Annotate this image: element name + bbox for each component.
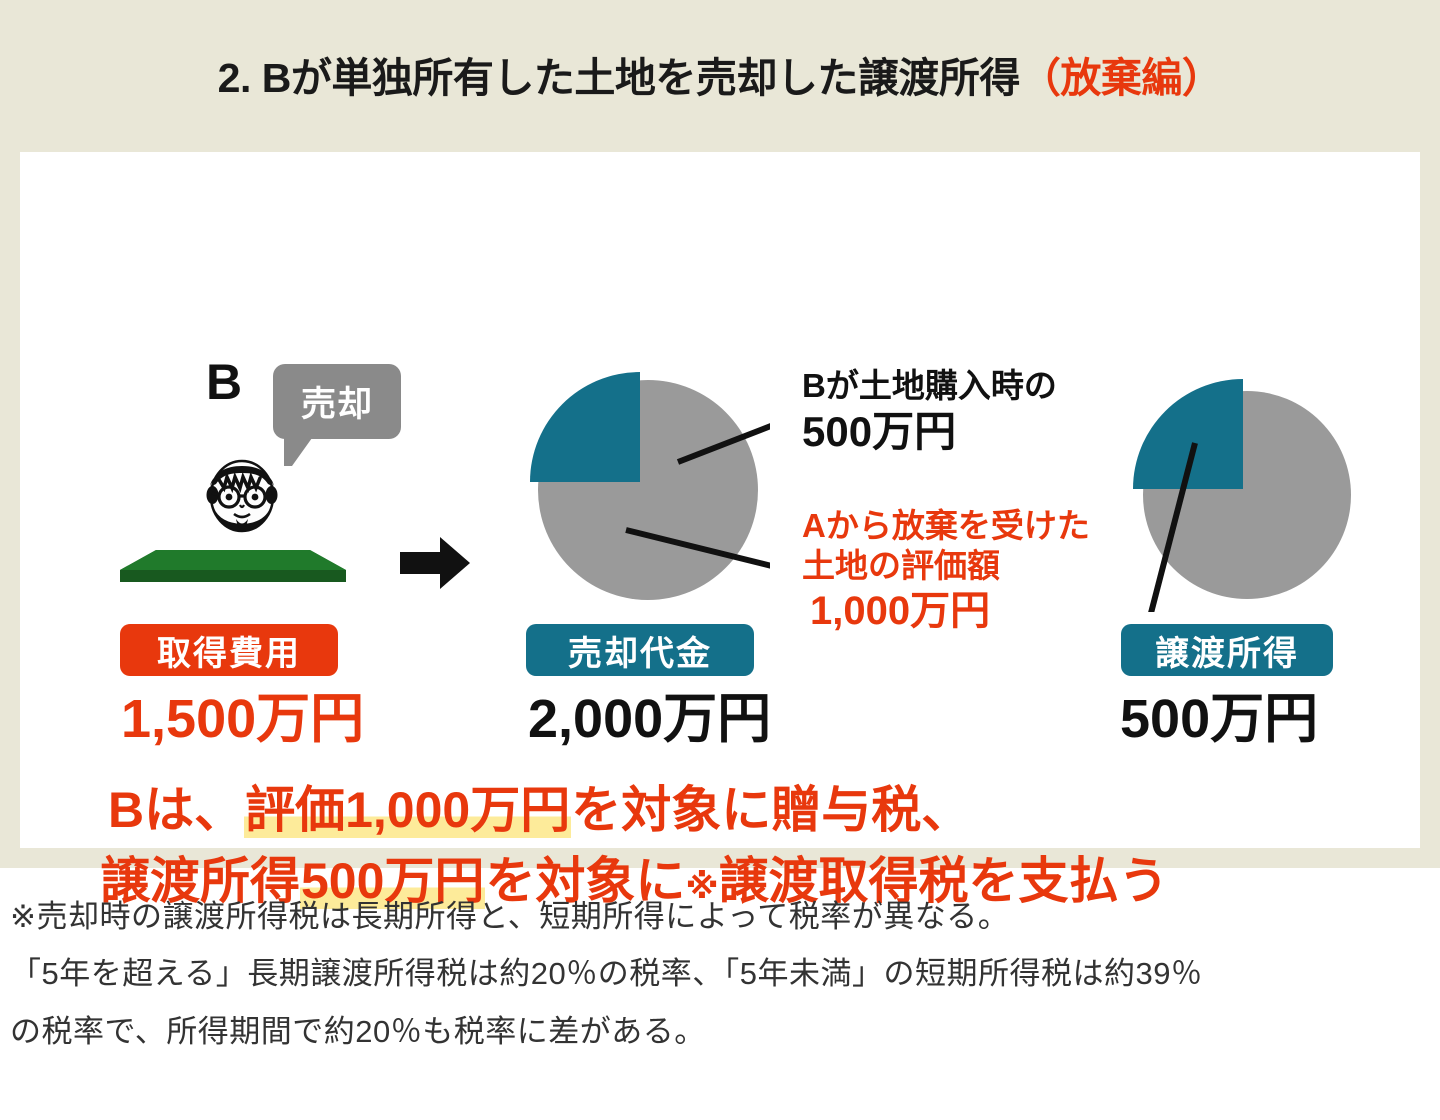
pie-slice-teal (530, 372, 640, 482)
footnote-block: ※売却時の譲渡所得税は長期所得と、短期所得によって税率が異なる。 「5年を超える… (0, 888, 1440, 1060)
annotation-waived-value-line2: 土地の評価額 (802, 546, 1090, 586)
page-title-accent: （放棄編） (1020, 55, 1223, 101)
page-title: 2. Bが単独所有した土地を売却した譲渡所得（放棄編） (0, 44, 1440, 104)
page-title-main: 2. Bが単独所有した土地を売却した譲渡所得 (218, 55, 1020, 101)
badge-acquisition-cost-label: 取得費用 (157, 626, 301, 675)
annotation-purchase-price: Bが土地購入時の 500万円 (802, 366, 1057, 457)
person-b-label: B (206, 357, 242, 407)
annotation-purchase-price-line1: Bが土地購入時の (802, 366, 1057, 406)
annotation-waived-value: Aから放棄を受けた 土地の評価額 1,000万円 (802, 506, 1090, 635)
footnote-line-1: ※売却時の譲渡所得税は長期所得と、短期所得によって税率が異なる。 (10, 888, 1430, 945)
conclusion-line-1-b: を対象に贈与税、 (571, 782, 971, 838)
conclusion-line-1-highlight: 評価1,000万円 (244, 782, 571, 838)
footnote-line-2: 「5年を超える」長期譲渡所得税は約20％の税率、「5年未満」の短期所得税は約39… (10, 945, 1430, 1002)
amount-capital-gain: 500万円 (1120, 692, 1318, 746)
conclusion-line-1: Bは、評価1,000万円を対象に贈与税、 (108, 780, 1420, 841)
badge-sale-proceeds: 売却代金 (526, 624, 754, 676)
infographic-page: 2. Bが単独所有した土地を売却した譲渡所得（放棄編） B 売却 (0, 0, 1440, 1120)
capital-gain-pie-chart (1115, 367, 1355, 612)
person-avatar-icon (196, 448, 288, 540)
badge-sale-proceeds-label: 売却代金 (568, 626, 712, 675)
amount-sale-proceeds: 2,000万円 (528, 692, 771, 746)
speech-bubble-text: 売却 (301, 376, 373, 427)
amount-acquisition-cost: 1,500万円 (121, 692, 364, 746)
annotation-waived-value-line1: Aから放棄を受けた (802, 506, 1090, 546)
speech-bubble-tail (284, 438, 312, 466)
annotation-waived-value-line3: 1,000万円 (810, 587, 1090, 636)
land-plot-icon (118, 548, 348, 592)
footnote-line-3: の税率で、所得期間で約20％も税率に差がある。 (10, 1003, 1430, 1060)
badge-acquisition-cost: 取得費用 (120, 624, 338, 676)
sale-proceeds-pie-chart (520, 362, 770, 612)
flow-arrow-icon (400, 532, 470, 594)
speech-bubble: 売却 (273, 364, 401, 439)
conclusion-line-1-a: Bは、 (108, 782, 244, 838)
badge-capital-gain-label: 譲渡所得 (1155, 626, 1299, 675)
badge-capital-gain: 譲渡所得 (1121, 624, 1333, 676)
main-card: B 売却 (20, 152, 1420, 848)
annotation-purchase-price-line2: 500万円 (802, 406, 1057, 457)
